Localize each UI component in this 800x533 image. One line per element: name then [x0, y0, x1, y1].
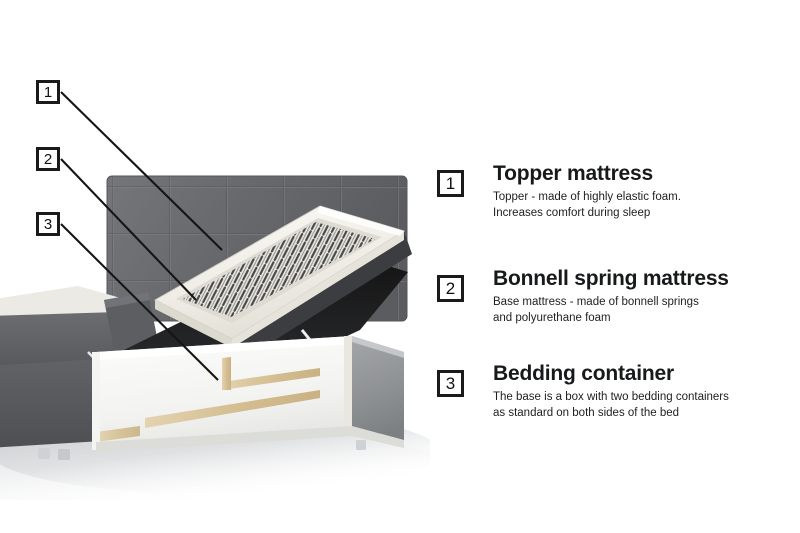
legend-desc-3-line-1: The base is a box with two bedding conta… [493, 391, 729, 403]
legend-title-3: Bedding container [493, 363, 794, 386]
legend-desc-2-line-1: Base mattress - made of bonnell springs [493, 296, 699, 308]
legend-text-block-3: Bedding container The base is a box with… [493, 363, 800, 421]
legend-desc-1-line-1: Topper - made of highly elastic foam. [493, 191, 681, 203]
legend-desc-3-line-2: as standard on both sides of the bed [493, 406, 794, 422]
bed-cutaway-graphic [0, 0, 430, 533]
container-right-edge [344, 336, 352, 434]
legend-text-block-1: Topper mattress Topper - made of highly … [493, 163, 800, 221]
legend-item-bonnell-spring-mattress: 2 Bonnell spring mattress Base mattress … [430, 268, 800, 326]
legend-number-3: 3 [437, 370, 464, 397]
legend-title-2: Bonnell spring mattress [493, 268, 794, 291]
container-left-edge [92, 352, 100, 450]
bed-leg-right [356, 440, 366, 450]
bed-illustration: 1 2 3 [0, 0, 430, 533]
legend-title-1: Topper mattress [493, 163, 794, 186]
legend-desc-1: Topper - made of highly elastic foam. In… [493, 190, 794, 222]
callout-box-3: 3 [36, 212, 60, 236]
legend-item-topper-mattress: 1 Topper mattress Topper - made of highl… [430, 163, 800, 221]
legend-number-2: 2 [437, 275, 464, 302]
bed-leg-left [38, 448, 50, 459]
legend-item-bedding-container: 3 Bedding container The base is a box wi… [430, 363, 800, 421]
legend-desc-2: Base mattress - made of bonnell springs … [493, 295, 794, 327]
infographic-page: 1 2 3 1 Topper mattress Topper - made of… [0, 0, 800, 533]
callout-box-1: 1 [36, 80, 60, 104]
legend-desc-1-line-2: Increases comfort during sleep [493, 206, 794, 222]
legend-desc-2-line-2: and polyurethane foam [493, 311, 794, 327]
legend-desc-3: The base is a box with two bedding conta… [493, 390, 794, 422]
legend-number-1: 1 [437, 170, 464, 197]
callout-box-2: 2 [36, 147, 60, 171]
container-bracket [222, 357, 231, 390]
legend-text-block-2: Bonnell spring mattress Base mattress - … [493, 268, 800, 326]
bed-leg-left-2 [58, 449, 70, 460]
legend-panel: 1 Topper mattress Topper - made of highl… [430, 0, 800, 533]
bedding-container [92, 336, 404, 452]
